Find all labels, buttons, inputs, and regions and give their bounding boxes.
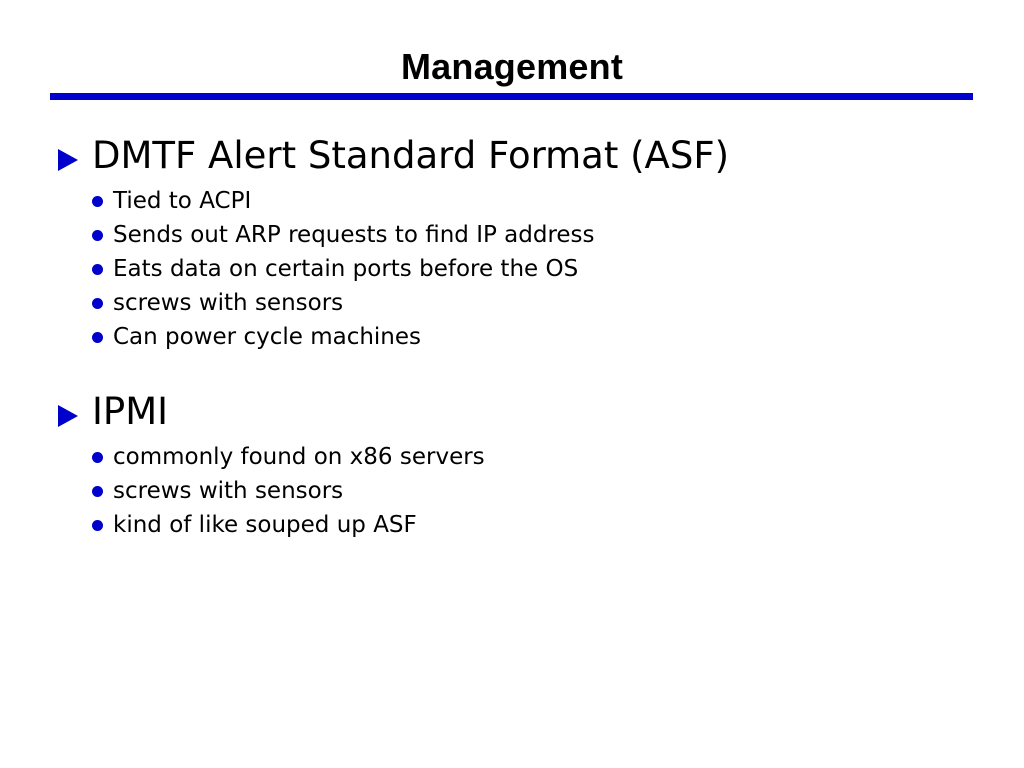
slide-canvas: Management DMTF Alert Standard Format (A… <box>0 0 1024 768</box>
bullet-item-level1[interactable]: DMTF Alert Standard Format (ASF) <box>0 132 1024 184</box>
dot-icon <box>92 196 103 207</box>
dot-icon <box>92 230 103 241</box>
bullet-level2-label: Can power cycle machines <box>113 320 1024 354</box>
bullet-level2-label: Tied to ACPI <box>113 184 1024 218</box>
dot-icon <box>92 452 103 463</box>
bullet-level2-label: commonly found on x86 servers <box>113 440 1024 474</box>
title-underline <box>50 93 973 100</box>
slide-body: DMTF Alert Standard Format (ASF) Tied to… <box>0 132 1024 542</box>
dot-icon <box>92 520 103 531</box>
bullet-item-level2[interactable]: Sends out ARP requests to find IP addres… <box>0 218 1024 252</box>
triangle-right-icon <box>58 149 78 171</box>
triangle-right-icon <box>58 405 78 427</box>
bullet-item-level1[interactable]: IPMI <box>0 388 1024 440</box>
bullet-level1-label: IPMI <box>92 388 1024 436</box>
bullet-level2-label: screws with sensors <box>113 286 1024 320</box>
bullet-level2-label: screws with sensors <box>113 474 1024 508</box>
bullet-item-level2[interactable]: Eats data on certain ports before the OS <box>0 252 1024 286</box>
bullet-item-level2[interactable]: Can power cycle machines <box>0 320 1024 354</box>
dot-icon <box>92 332 103 343</box>
bullet-level2-label: Eats data on certain ports before the OS <box>113 252 1024 286</box>
dot-icon <box>92 264 103 275</box>
bullet-level1-label: DMTF Alert Standard Format (ASF) <box>92 132 1024 180</box>
bullet-item-level2[interactable]: screws with sensors <box>0 474 1024 508</box>
page-title: Management <box>50 44 974 90</box>
bullet-level2-label: kind of like souped up ASF <box>113 508 1024 542</box>
dot-icon <box>92 486 103 497</box>
bullet-level2-label: Sends out ARP requests to find IP addres… <box>113 218 1024 252</box>
dot-icon <box>92 298 103 309</box>
bullet-item-level2[interactable]: kind of like souped up ASF <box>0 508 1024 542</box>
bullet-item-level2[interactable]: commonly found on x86 servers <box>0 440 1024 474</box>
slide-title-block: Management <box>50 44 974 94</box>
bullet-item-level2[interactable]: Tied to ACPI <box>0 184 1024 218</box>
bullet-item-level2[interactable]: screws with sensors <box>0 286 1024 320</box>
blank-line <box>0 354 1024 388</box>
